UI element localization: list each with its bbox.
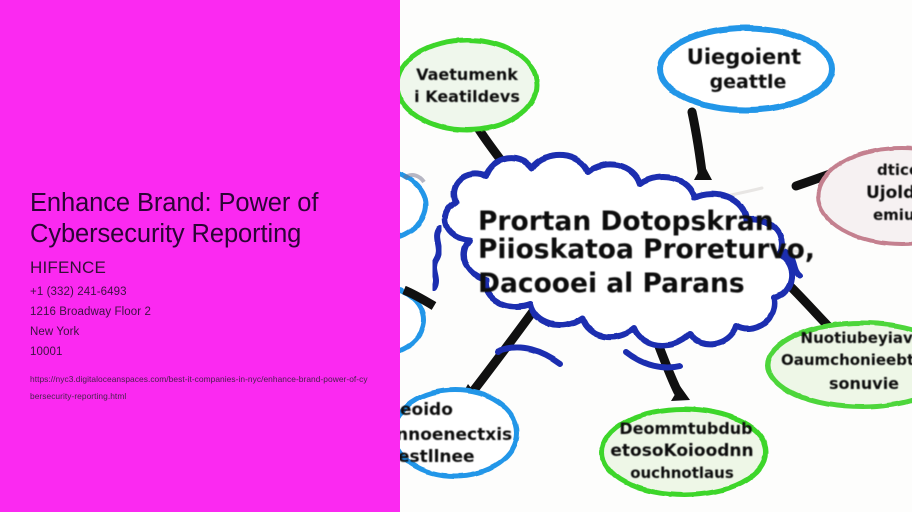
zip-code: 10001 (30, 342, 385, 362)
cloud-line-1: Prortan Dotopskran (478, 206, 774, 237)
cloud-line-2: Piioskatoa Proreturvo, (478, 234, 815, 265)
info-panel: Enhance Brand: Power of Cybersecurity Re… (0, 0, 400, 512)
node-bottom-center-text: Deommtubdub etosoKoioodnn ouchnotlaus (610, 419, 753, 482)
node-right-line-2: Ujoldgre (866, 183, 912, 203)
source-url[interactable]: https://nyc3.digitaloceanspaces.com/best… (30, 371, 368, 405)
cloud-line-3: Dacooei al Parans (478, 268, 745, 299)
phone-number: +1 (332) 241-6493 (30, 282, 385, 302)
node-top-left-line-2: i Keatildevs (414, 87, 520, 106)
node-right-line-1: dticee (877, 161, 912, 179)
city: New York (30, 322, 385, 342)
page-title: Enhance Brand: Power of Cybersecurity Re… (30, 188, 385, 250)
screenshot-root: Prortan Dotopskran Piioskatoa Proreturvo… (0, 0, 912, 512)
node-bottom-right-line-3: sonuvie (829, 374, 899, 393)
node-top-left (397, 40, 537, 130)
node-bottom-right-line-2: Oaumchonieebten (781, 351, 912, 369)
node-bottom-center-line-3: ouchnotlaus (630, 464, 734, 482)
node-top-right (660, 28, 832, 110)
node-bottom-left-line-3: estllnee (398, 447, 475, 467)
node-top-left-line-1: Vaetumenk (416, 65, 518, 84)
street-address: 1216 Broadway Floor 2 (30, 302, 385, 322)
node-bottom-center-line-1: Deommtubdub (619, 419, 752, 438)
brand-name: HIFENCE (30, 257, 385, 279)
node-bottom-center-line-2: etosoKoioodnn (610, 441, 753, 461)
node-bottom-left-line-2: nnoenectxis (396, 425, 512, 445)
node-bottom-right-line-1: Nuotiubeyiavu (801, 329, 912, 347)
info-panel-content: Enhance Brand: Power of Cybersecurity Re… (30, 188, 385, 405)
node-bottom-left-line-1: eoido (400, 400, 453, 420)
node-right-line-3: emiuo (873, 206, 912, 224)
node-top-right-line-1: Uiegoient (687, 45, 801, 69)
node-top-right-line-2: geattle (710, 71, 787, 93)
